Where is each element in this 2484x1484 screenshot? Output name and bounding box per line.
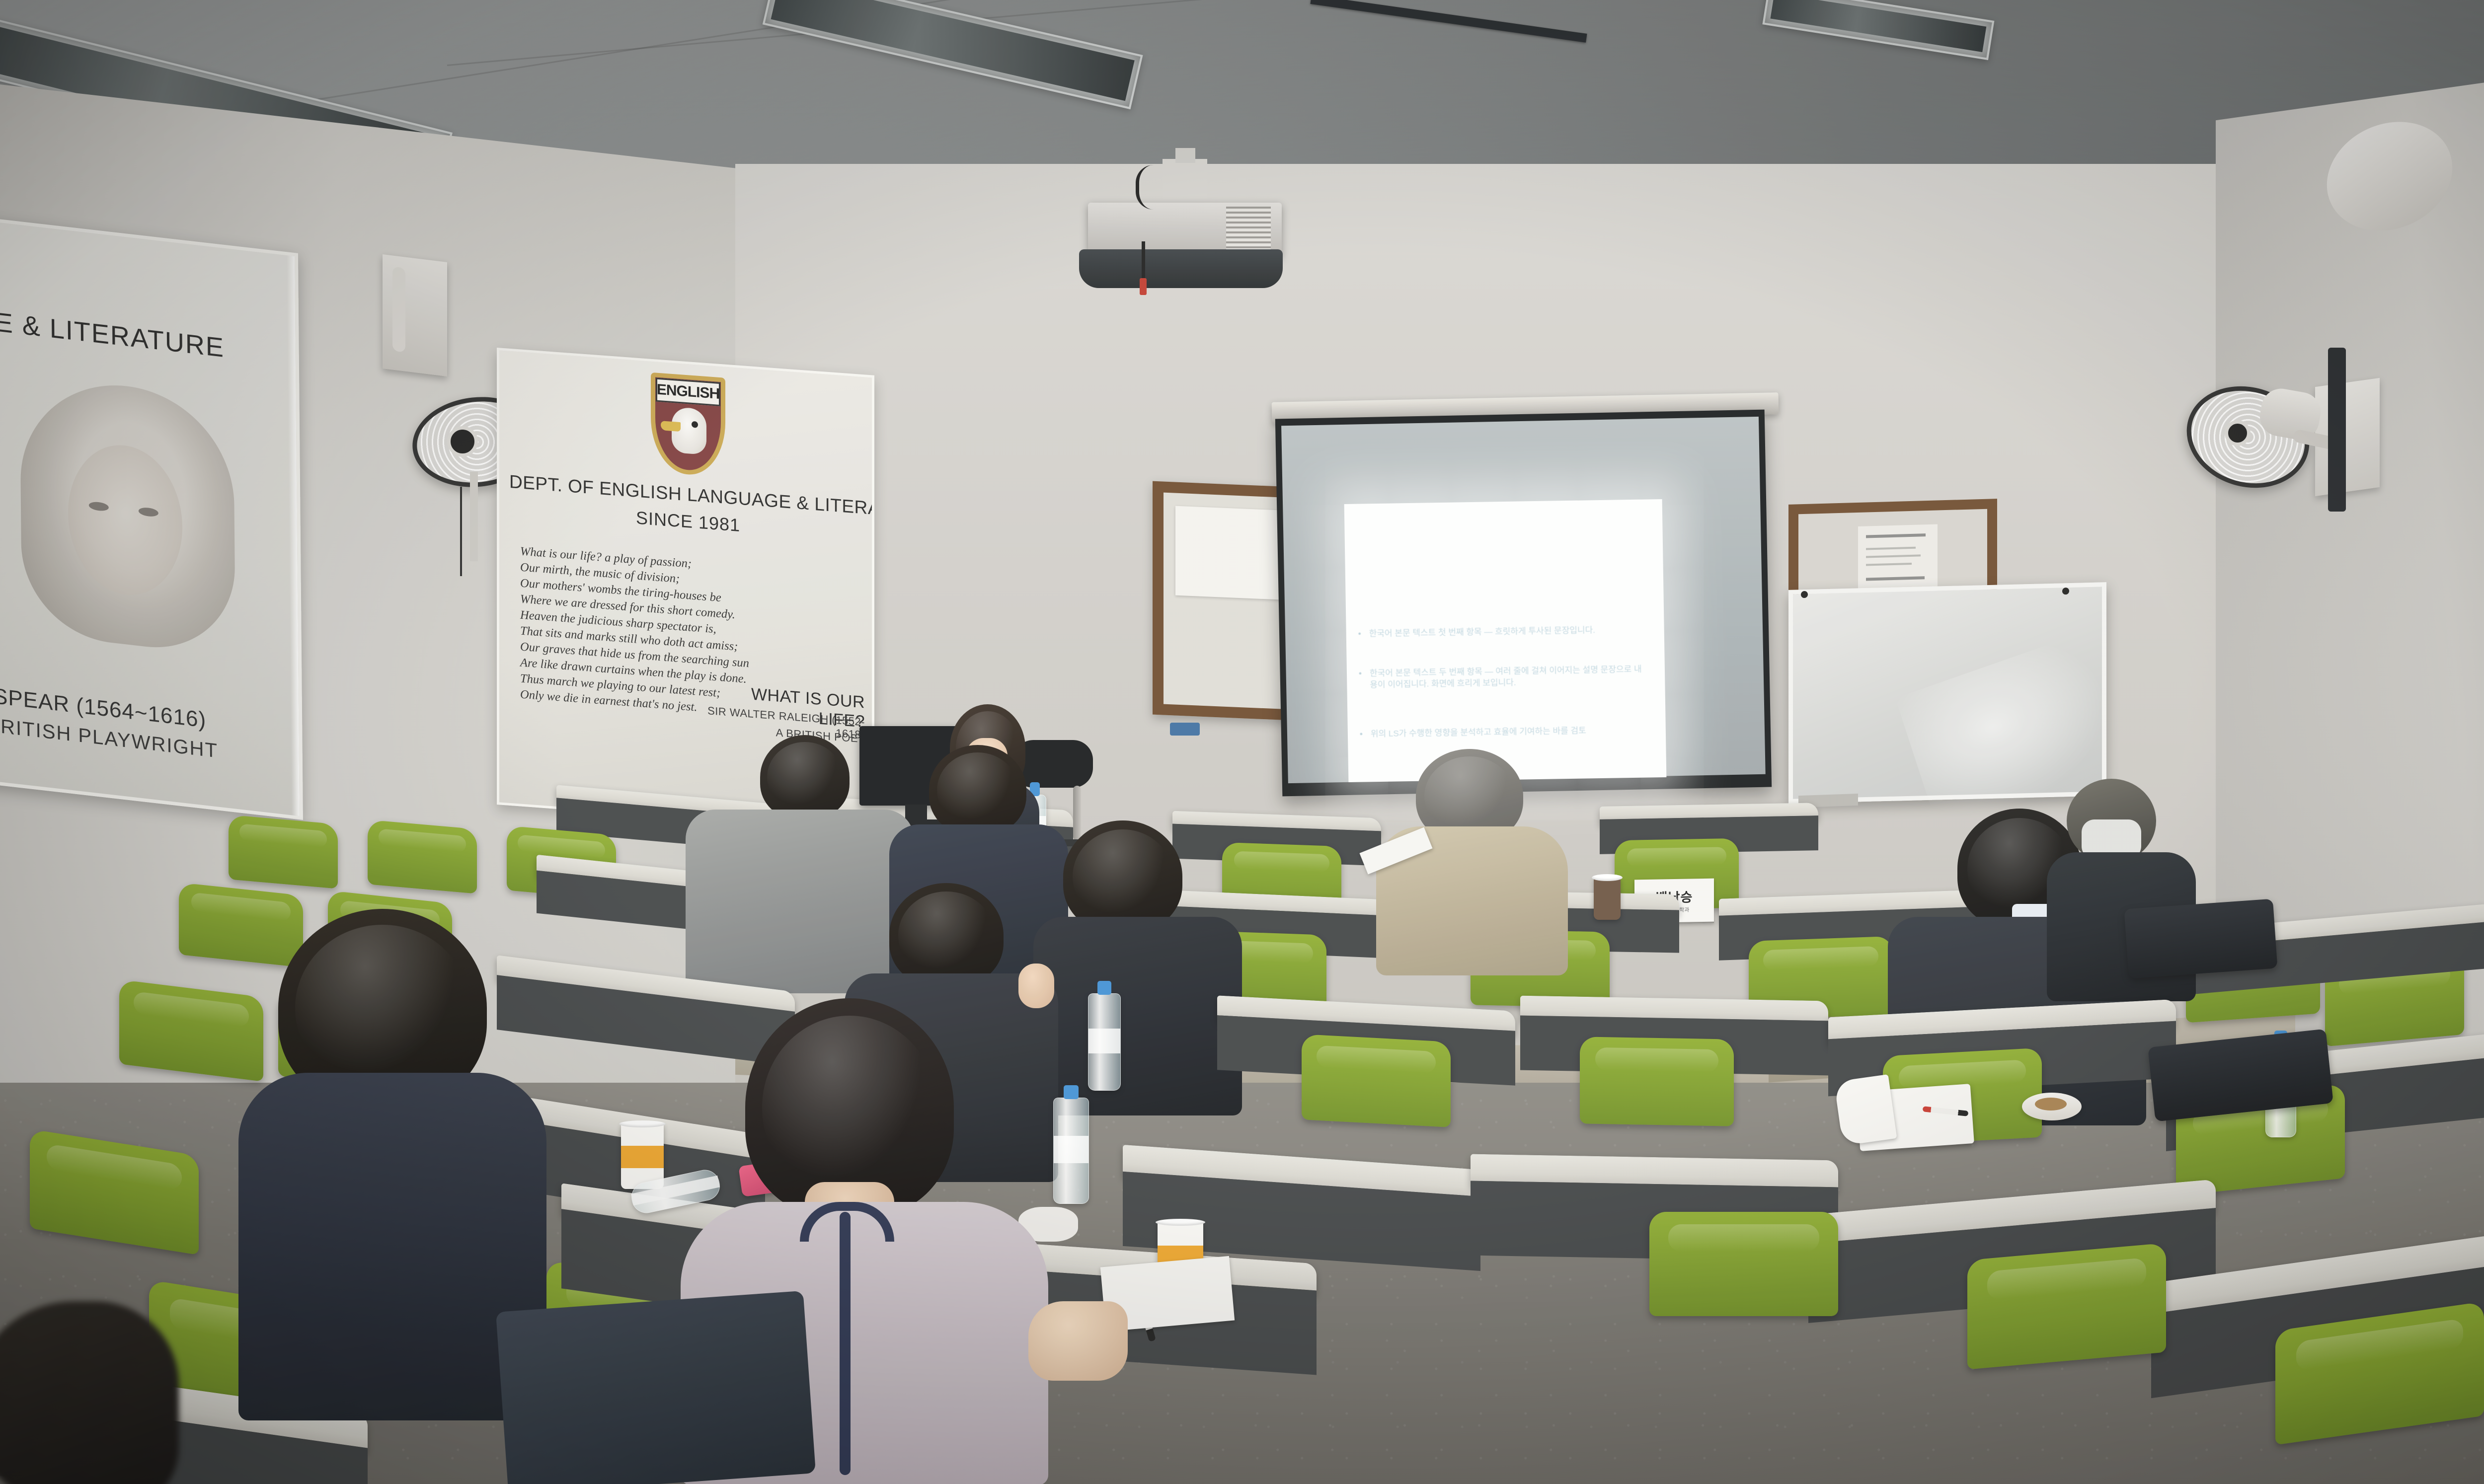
- crest-word: ENGLISH: [656, 378, 720, 405]
- chair[interactable]: [368, 819, 477, 893]
- paper-cup[interactable]: [1594, 877, 1621, 920]
- projector-cable: [1142, 241, 1145, 283]
- slide-bullet: 한국어 본문 텍스트 첫 번째 항목 — 흐릿하게 투사된 문장입니다.: [1369, 624, 1647, 640]
- person-bob-hair: [1063, 820, 1182, 933]
- person-hand: [1018, 964, 1054, 1008]
- wall-speaker: [383, 254, 447, 376]
- blue-object: [1170, 723, 1200, 736]
- notebook-page: [1834, 1074, 1897, 1146]
- person-grey-suit-hair: [760, 735, 850, 819]
- desk: [1600, 803, 1818, 825]
- desk: [1520, 996, 1828, 1027]
- chair[interactable]: [1967, 1243, 2166, 1370]
- projector-plug: [1140, 278, 1147, 295]
- person-hand-raised-hair: [889, 883, 1004, 987]
- person-grey-suit-body: [686, 810, 914, 993]
- projector-vent: [1226, 207, 1271, 252]
- desk: [1471, 1154, 1838, 1193]
- person-navy-front-hair: [929, 745, 1026, 835]
- wall-fan-right: [2186, 377, 2350, 546]
- projected-slide: 한국어 본문 텍스트 첫 번째 항목 — 흐릿하게 투사된 문장입니다. 한국어…: [1344, 499, 1667, 782]
- chair[interactable]: [119, 979, 263, 1082]
- water-bottle[interactable]: [1088, 993, 1121, 1091]
- portrait-eye: [89, 501, 109, 512]
- projector-arm: [1175, 148, 1195, 163]
- whiteboard-pin: [1801, 591, 1808, 598]
- projection-screen[interactable]: 한국어 본문 텍스트 첫 번째 항목 — 흐릿하게 투사된 문장입니다. 한국어…: [1272, 397, 1779, 810]
- slide-bullet: 한국어 본문 텍스트 두 번째 항목 — 여러 줄에 걸쳐 이어지는 설명 문장…: [1370, 664, 1648, 691]
- projector-cable: [1136, 165, 1180, 210]
- poem-body: What is our life? a play of passion; Our…: [520, 543, 729, 718]
- fan-cord: [460, 487, 462, 576]
- fan-hub: [2225, 420, 2251, 446]
- wall-bracket: [2328, 348, 2346, 512]
- ceiling-projector: [1088, 194, 1282, 288]
- person-lavender-hand: [1028, 1301, 1128, 1381]
- chair[interactable]: [229, 815, 338, 889]
- chair[interactable]: [179, 883, 303, 967]
- panel-light-edge: [287, 255, 300, 816]
- chair[interactable]: [1649, 1212, 1838, 1316]
- garment-trim: [840, 1212, 851, 1475]
- classroom-photo: GE & LITERATURE ESPEAR (1564~1616) A BRI…: [0, 0, 2484, 1484]
- banner-left-heading: GE & LITERATURE: [0, 300, 258, 368]
- slide-bullet: 위의 LS가 수행한 영향을 분석하고 효율에 기여하는 바를 검토: [1371, 724, 1649, 740]
- projector-lens-panel: [1079, 249, 1283, 288]
- chair[interactable]: [1302, 1034, 1451, 1127]
- posted-notice: [1175, 506, 1280, 600]
- snack-contents: [2035, 1098, 2067, 1111]
- water-bottle[interactable]: [1053, 1098, 1089, 1204]
- fan-hub: [447, 426, 478, 457]
- fan-pole: [470, 472, 478, 561]
- english-crest-icon: ENGLISH: [651, 372, 725, 477]
- foreground-blur: [0, 1301, 179, 1484]
- draped-jacket: [496, 1291, 816, 1484]
- whiteboard[interactable]: [1788, 582, 2106, 804]
- chair[interactable]: [1580, 1037, 1734, 1126]
- whiteboard-pin: [2062, 588, 2069, 594]
- banner-shakespeare: GE & LITERATURE ESPEAR (1564~1616) A BRI…: [0, 214, 303, 820]
- bag: [2124, 899, 2277, 979]
- portrait-eye: [139, 507, 158, 518]
